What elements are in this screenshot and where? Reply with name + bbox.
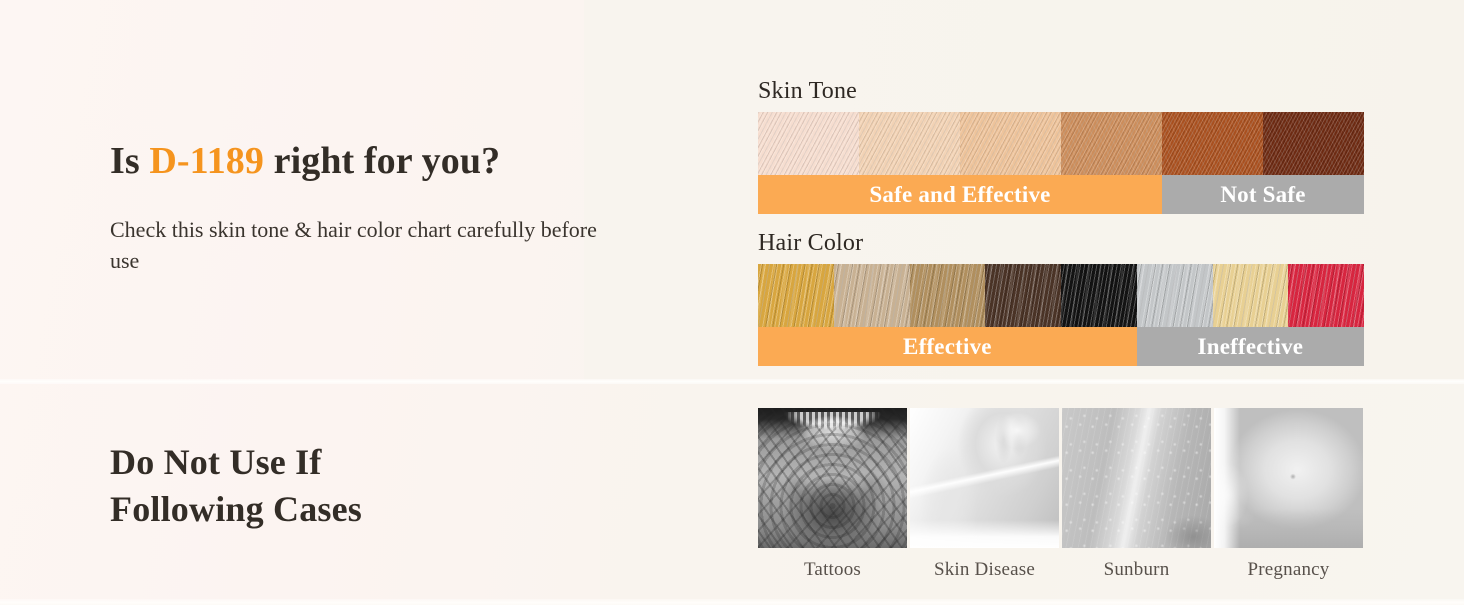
swatch-skin-very-fair	[758, 112, 859, 175]
case-label-pregnancy: Pregnancy	[1214, 559, 1363, 581]
skin-tone-chart-title: Skin Tone	[758, 78, 1364, 105]
case-item-tattoos: Tattoos	[758, 408, 907, 581]
skin-tone-chart: Skin Tone Safe and Effective Not Safe	[758, 78, 1364, 214]
swatch-hair-red	[1288, 264, 1364, 327]
case-label-skin-disease: Skin Disease	[910, 559, 1059, 581]
swatch-skin-tan	[1061, 112, 1162, 175]
verdict-effective: Effective	[758, 327, 1137, 366]
headline-prefix: Is	[110, 140, 149, 182]
case-item-pregnancy: Pregnancy	[1214, 408, 1363, 581]
verdict-not-safe: Not Safe	[1162, 175, 1364, 214]
contraindications-title-line2: Following Cases	[110, 489, 362, 529]
contraindications-title: Do Not Use If Following Cases	[110, 439, 362, 533]
contraindications-title-line1: Do Not Use If	[110, 442, 322, 482]
swatch-hair-golden-blonde	[758, 264, 834, 327]
swatch-hair-dark-brown	[985, 264, 1061, 327]
contraindications-section: Do Not Use If Following Cases Tattoos Sk…	[0, 384, 1464, 605]
skin-tone-swatch-row	[758, 112, 1364, 175]
case-label-tattoos: Tattoos	[758, 559, 907, 581]
suitability-section: Is D-1189 right for you? Check this skin…	[0, 0, 1464, 379]
swatch-hair-light-brown	[910, 264, 986, 327]
hair-color-chart: Hair Color Effective Ineffective	[758, 230, 1364, 366]
sunburned-back-photo	[1062, 408, 1211, 548]
swatch-skin-deep-tan	[1162, 112, 1263, 175]
tattooed-back-photo	[758, 408, 907, 548]
case-item-skin-disease: Skin Disease	[910, 408, 1059, 581]
page-title: Is D-1189 right for you?	[110, 139, 500, 183]
swatch-hair-black	[1061, 264, 1137, 327]
page-subtitle: Check this skin tone & hair color chart …	[110, 214, 630, 276]
swatch-hair-grey-white	[1137, 264, 1213, 327]
case-label-sunburn: Sunburn	[1062, 559, 1211, 581]
swatch-skin-light-medium	[960, 112, 1061, 175]
hair-color-verdict-row: Effective Ineffective	[758, 327, 1364, 366]
swatch-hair-ash-blonde	[834, 264, 910, 327]
hair-color-chart-title: Hair Color	[758, 230, 1364, 257]
contraindication-cases-row: Tattoos Skin Disease Sunburn Pregnancy	[758, 408, 1363, 581]
case-item-sunburn: Sunburn	[1062, 408, 1211, 581]
verdict-ineffective: Ineffective	[1137, 327, 1364, 366]
headline-suffix: right for you?	[264, 140, 500, 182]
ipl-suitability-infographic: Is D-1189 right for you? Check this skin…	[0, 0, 1464, 605]
scratching-skin-photo	[910, 408, 1059, 548]
swatch-skin-fair	[859, 112, 960, 175]
hair-color-swatch-row	[758, 264, 1364, 327]
skin-tone-verdict-row: Safe and Effective Not Safe	[758, 175, 1364, 214]
product-code: D-1189	[149, 140, 264, 182]
verdict-safe-and-effective: Safe and Effective	[758, 175, 1162, 214]
swatch-hair-pale-blonde	[1213, 264, 1289, 327]
swatch-skin-dark	[1263, 112, 1364, 175]
pregnant-belly-photo	[1214, 408, 1363, 548]
